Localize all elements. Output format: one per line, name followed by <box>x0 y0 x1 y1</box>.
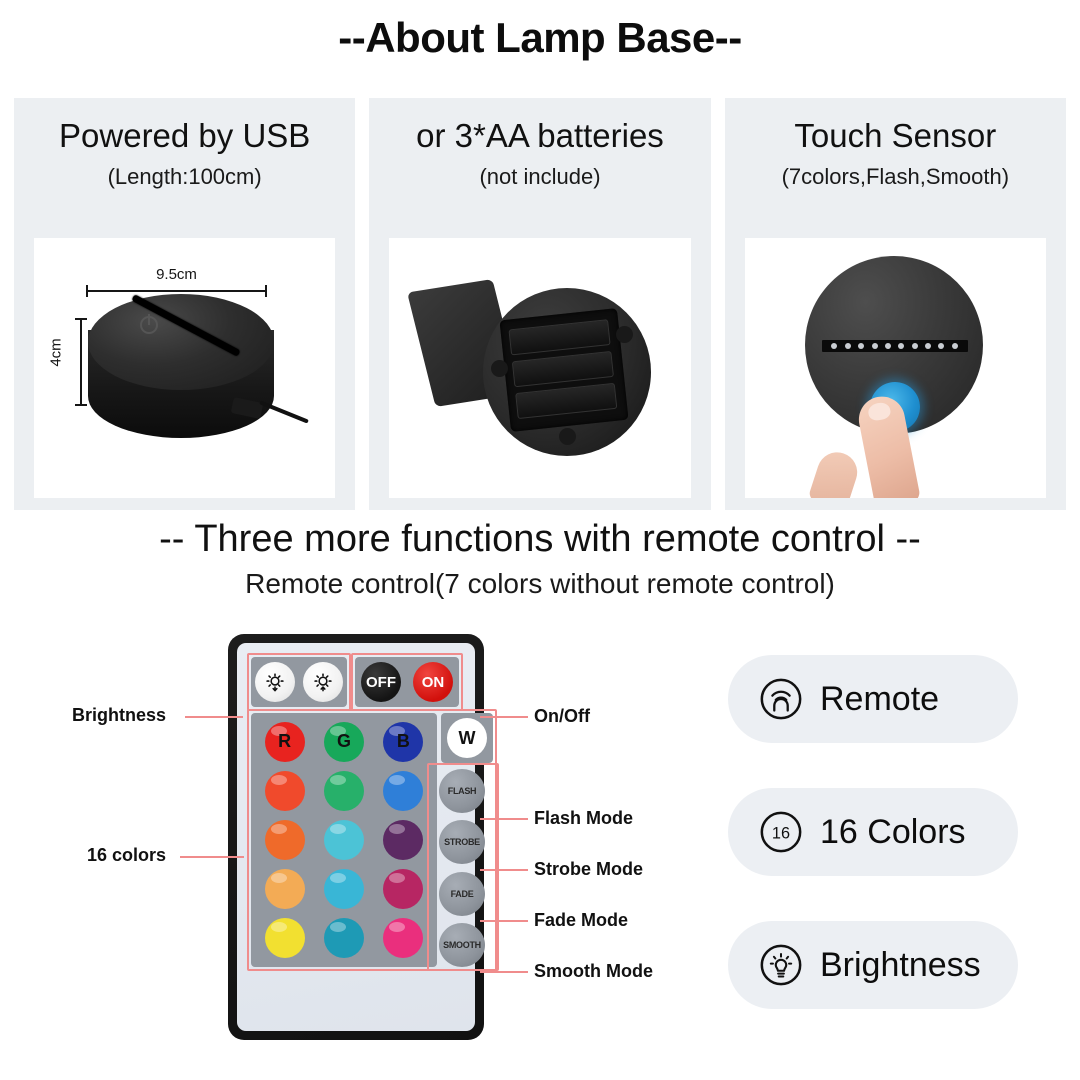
color-button[interactable] <box>324 820 364 860</box>
width-dimension-label: 9.5cm <box>86 266 267 283</box>
color-button[interactable] <box>324 918 364 958</box>
sixteen-circle-icon: 16 <box>758 809 804 855</box>
sun-dim-icon <box>264 671 286 693</box>
lamp-base-usb-photo: 9.5cm 4cm <box>34 238 335 498</box>
height-dimension: 4cm <box>48 318 82 406</box>
panel-title: Powered by USB <box>59 118 310 154</box>
led-dot <box>858 343 864 349</box>
color-button-label: B <box>397 731 410 752</box>
led-dot <box>952 343 958 349</box>
callout-16-colors: 16 colors <box>87 845 166 866</box>
color-button-label: W <box>459 728 476 749</box>
led-dot <box>898 343 904 349</box>
lamp-base-top <box>88 294 274 390</box>
smooth-mode-button[interactable]: SMOOTH <box>439 923 485 967</box>
remote-control[interactable]: OFF ON W R G B <box>228 634 484 1040</box>
panel-powered-by-usb: Powered by USB (Length:100cm) 9.5cm 4cm <box>14 98 355 510</box>
fade-mode-button[interactable]: FADE <box>439 872 485 916</box>
feature-label: Brightness <box>820 946 981 985</box>
strobe-mode-button[interactable]: STROBE <box>439 820 485 864</box>
lamp-base-illustration <box>80 290 285 458</box>
panel-subtitle: (not include) <box>479 164 600 190</box>
feature-remote: Remote <box>728 655 1018 743</box>
brightness-down-button[interactable] <box>255 662 295 702</box>
led-dot <box>938 343 944 349</box>
power-symbol-icon <box>140 316 158 334</box>
touch-sensor-illustration <box>805 256 1005 486</box>
battery-cavity <box>500 308 629 432</box>
color-button[interactable] <box>324 869 364 909</box>
led-dot <box>885 343 891 349</box>
callout-brightness-line <box>185 716 243 718</box>
callout-brightness: Brightness <box>72 705 166 726</box>
color-button-label: G <box>337 731 351 752</box>
color-button[interactable] <box>383 771 423 811</box>
color-button[interactable] <box>383 918 423 958</box>
panel-title: Touch Sensor <box>794 118 996 154</box>
feature-brightness: Brightness <box>728 921 1018 1009</box>
color-button-b[interactable]: B <box>383 722 423 762</box>
panel-subtitle: (7colors,Flash,Smooth) <box>782 164 1009 190</box>
sun-bright-icon <box>312 671 334 693</box>
remote-faceplate: OFF ON W R G B <box>237 643 475 1031</box>
battery-slot <box>512 351 614 387</box>
battery-base-illustration <box>415 268 665 468</box>
color-button[interactable] <box>265 918 305 958</box>
battery-slot <box>515 383 617 419</box>
color-button[interactable] <box>383 869 423 909</box>
color-button[interactable] <box>265 869 305 909</box>
panel-subtitle: (Length:100cm) <box>108 164 262 190</box>
callout-fade-mode-line <box>480 920 528 922</box>
feature-label: 16 Colors <box>820 813 966 852</box>
led-dot <box>831 343 837 349</box>
svg-text:16: 16 <box>772 825 790 843</box>
color-button-g[interactable]: G <box>324 722 364 762</box>
panel-touch-sensor: Touch Sensor (7colors,Flash,Smooth) <box>725 98 1066 510</box>
usb-cable <box>232 398 304 432</box>
white-button-group: W <box>441 713 493 763</box>
on-button[interactable]: ON <box>413 662 453 702</box>
info-panels: Powered by USB (Length:100cm) 9.5cm 4cm <box>14 98 1066 510</box>
page-title: --About Lamp Base-- <box>0 14 1080 62</box>
callout-fade-mode: Fade Mode <box>534 910 628 931</box>
color-button[interactable] <box>383 820 423 860</box>
color-button-label: R <box>278 731 291 752</box>
power-button-group: OFF ON <box>355 657 459 707</box>
feature-16-colors: 16 16 Colors <box>728 788 1018 876</box>
color-button[interactable] <box>324 771 364 811</box>
callout-on-off-line <box>480 716 528 718</box>
height-dimension-label: 4cm <box>48 338 65 366</box>
callout-strobe-mode-line <box>480 869 528 871</box>
callout-strobe-mode: Strobe Mode <box>534 859 643 880</box>
color-button[interactable] <box>265 820 305 860</box>
mode-button-column: FLASH STROBE FADE SMOOTH <box>439 769 493 967</box>
remote-signal-icon <box>758 676 804 722</box>
led-dot <box>925 343 931 349</box>
battery-slot <box>509 319 611 355</box>
led-dot <box>912 343 918 349</box>
callout-flash-mode-line <box>480 818 528 820</box>
section-heading: -- Three more functions with remote cont… <box>0 518 1080 561</box>
hand-thumb <box>807 447 862 498</box>
usb-plug <box>231 397 264 419</box>
brightness-button-group <box>251 657 347 707</box>
color-button-r[interactable]: R <box>265 722 305 762</box>
color-button[interactable] <box>265 771 305 811</box>
led-dot <box>845 343 851 349</box>
led-strip-slot <box>822 340 968 352</box>
touch-sensor-photo <box>745 238 1046 498</box>
callout-smooth-mode: Smooth Mode <box>534 961 653 982</box>
rubber-foot <box>559 428 576 445</box>
panel-title: or 3*AA batteries <box>416 118 664 154</box>
callout-flash-mode: Flash Mode <box>534 808 633 829</box>
battery-compartment-photo <box>389 238 690 498</box>
off-button[interactable]: OFF <box>361 662 401 702</box>
usb-wire <box>259 400 309 423</box>
brightness-up-button[interactable] <box>303 662 343 702</box>
rubber-foot <box>616 326 633 343</box>
callout-smooth-mode-line <box>480 971 528 973</box>
callout-on-off: On/Off <box>534 706 590 727</box>
feature-list: Remote 16 16 Colors Brightness <box>728 655 1018 1054</box>
flash-mode-button[interactable]: FLASH <box>439 769 485 813</box>
section-subheading: Remote control(7 colors without remote c… <box>0 568 1080 600</box>
panel-aa-batteries: or 3*AA batteries (not include) <box>369 98 710 510</box>
led-dot <box>872 343 878 349</box>
light-bulb-icon <box>758 942 804 988</box>
color-button-w[interactable]: W <box>447 718 487 758</box>
feature-label: Remote <box>820 680 939 719</box>
lamp-base-underside <box>483 288 651 456</box>
color-button-grid: R G B <box>251 713 437 967</box>
callout-16-colors-line <box>180 856 244 858</box>
